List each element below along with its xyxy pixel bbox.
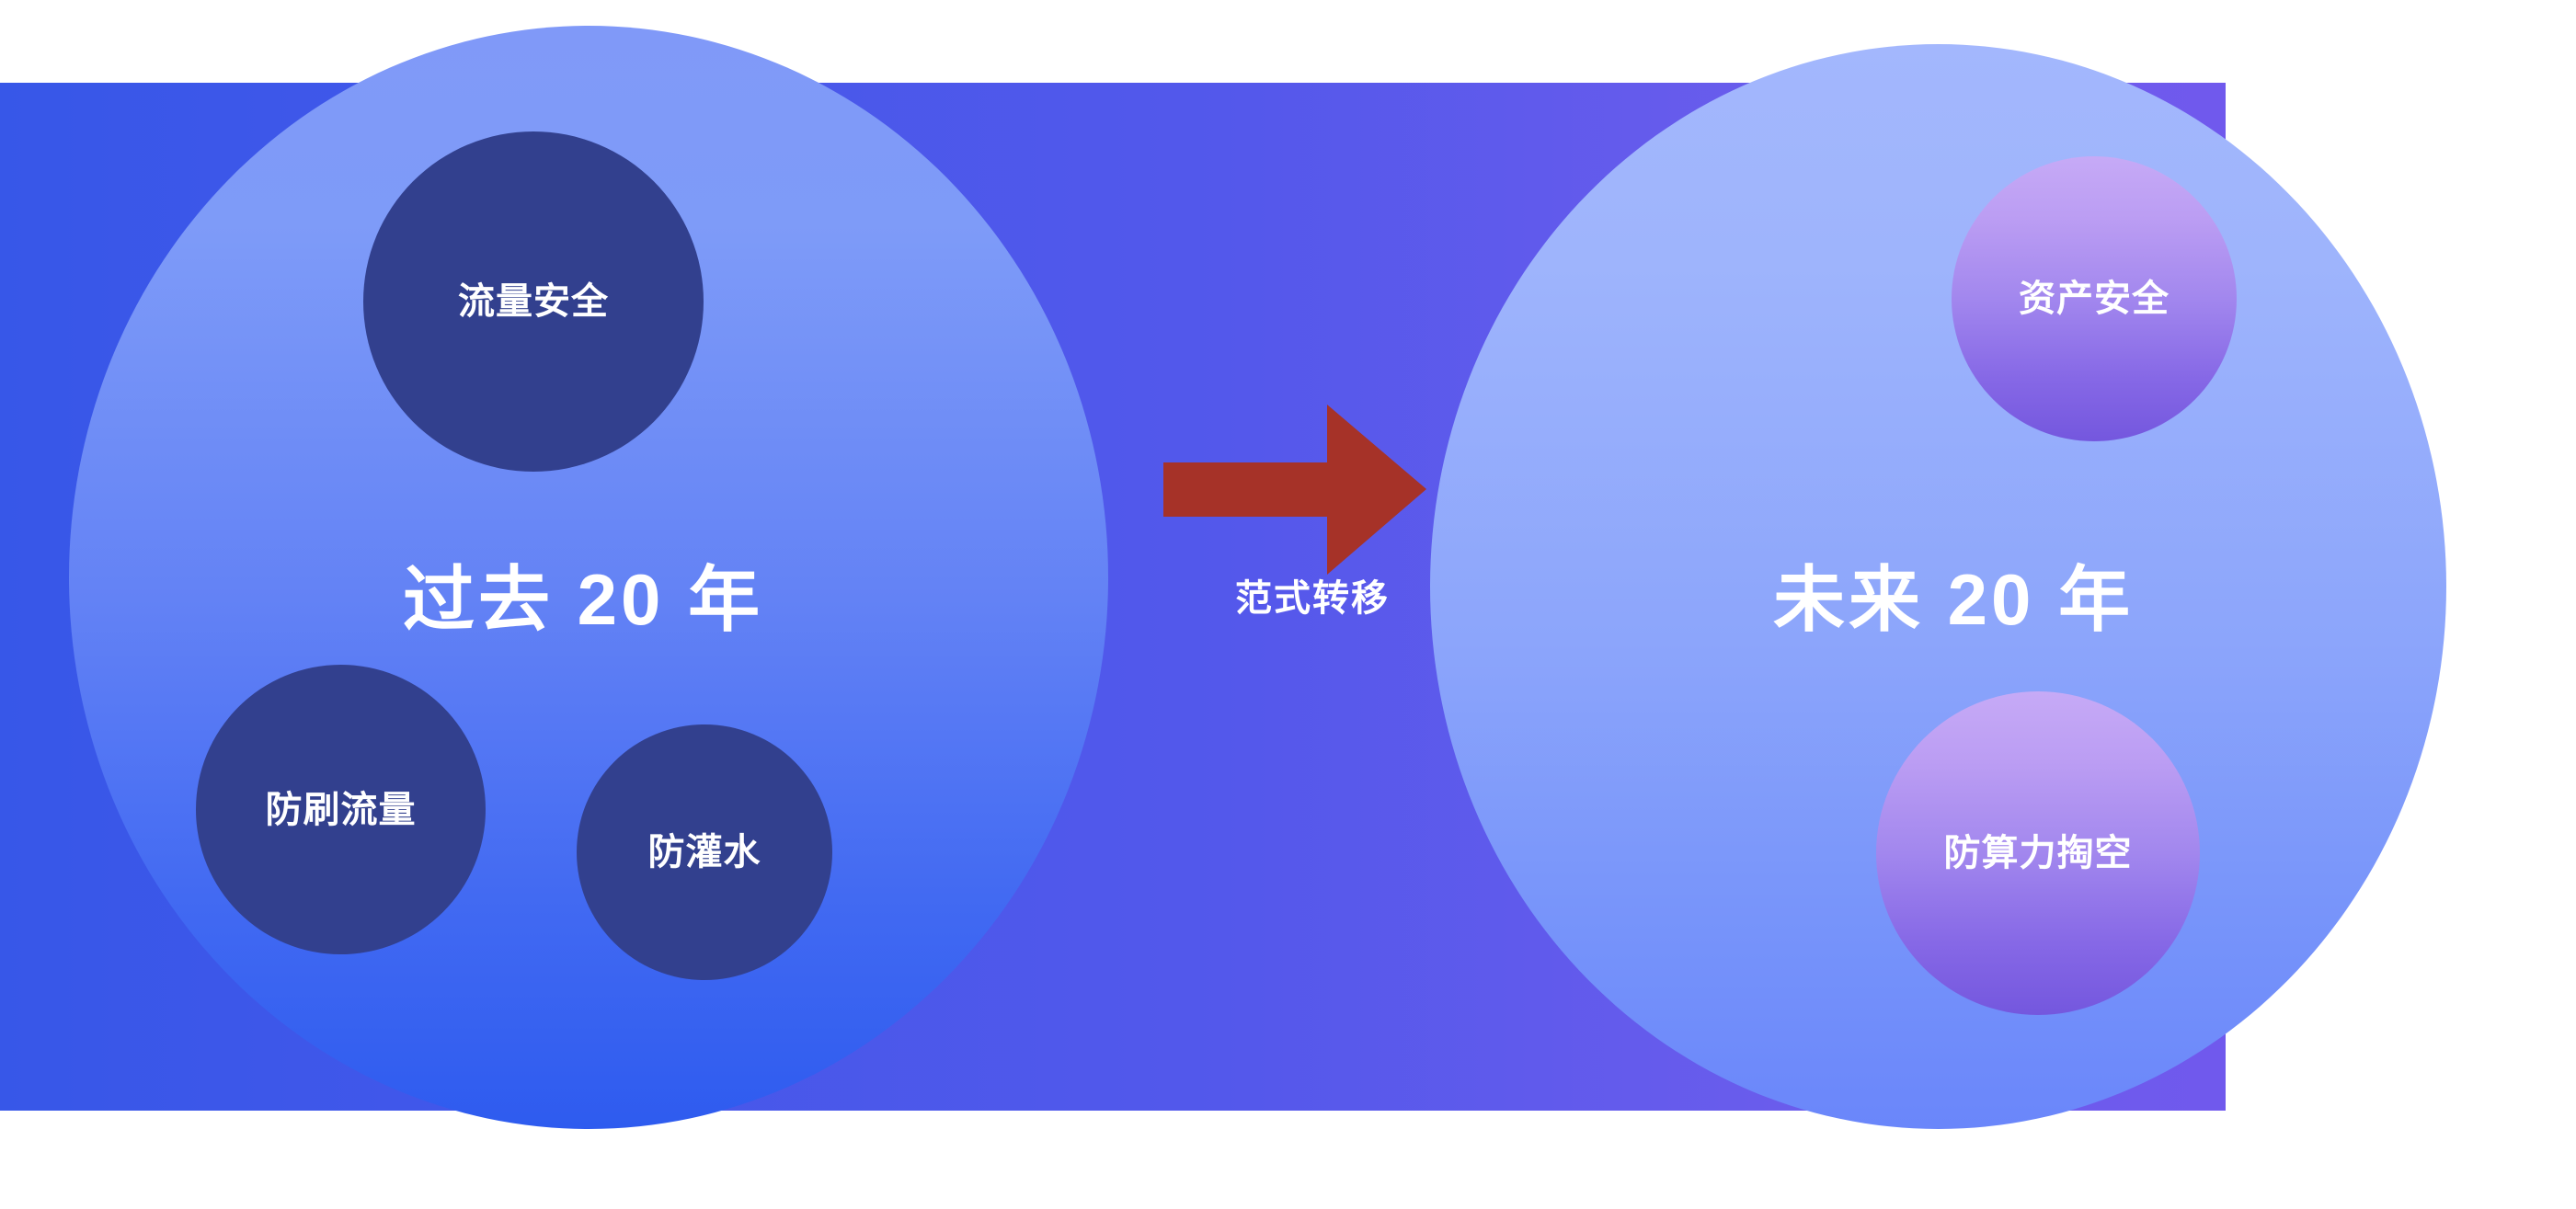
past-era-title: 过去 20 年 [403, 542, 763, 645]
past-bubble-anti-water-injection-label: 防灌水 [648, 831, 761, 873]
paradigm-shift-label: 范式转移 [1161, 568, 1464, 622]
future-bubble-anti-compute-drain[interactable]: 防算力掏空 [1876, 691, 2200, 1015]
arrow-right-icon [1163, 405, 1458, 588]
future-bubble-asset-security[interactable]: 资产安全 [1952, 156, 2237, 441]
future-bubble-asset-security-label: 资产安全 [2019, 278, 2170, 320]
past-bubble-traffic-security[interactable]: 流量安全 [363, 131, 704, 472]
future-bubble-anti-compute-drain-label: 防算力掏空 [1944, 832, 2133, 874]
past-bubble-traffic-security-label: 流量安全 [458, 280, 609, 323]
past-bubble-anti-brush-traffic-label: 防刷流量 [266, 789, 417, 831]
future-era-title: 未来 20 年 [1773, 542, 2134, 645]
past-bubble-anti-water-injection[interactable]: 防灌水 [577, 724, 832, 980]
past-bubble-anti-brush-traffic[interactable]: 防刷流量 [196, 665, 486, 954]
diagram-canvas: 流量安全 防刷流量 防灌水 过去 20 年 范式转移 资产安全 防算力掏空 未来… [0, 0, 2576, 1209]
